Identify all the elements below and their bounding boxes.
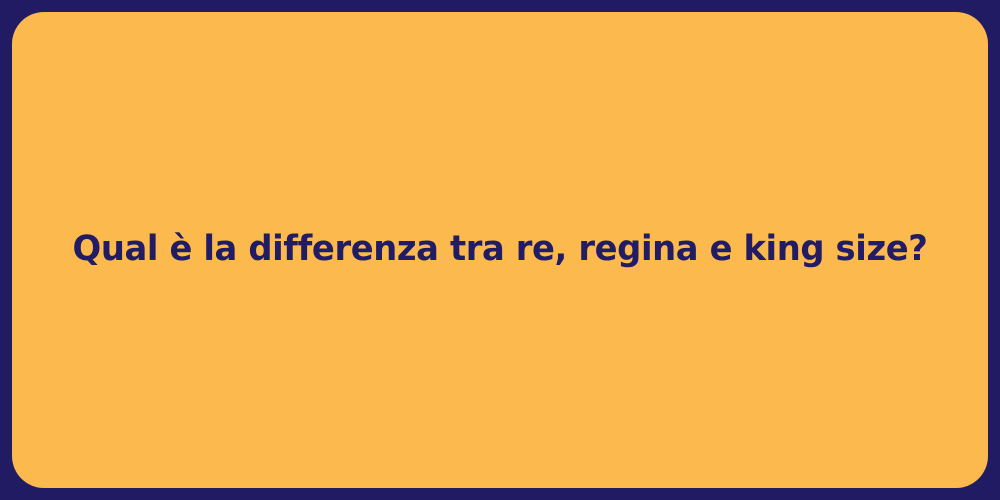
page-title: Qual è la differenza tra re, regina e ki…: [34, 228, 966, 272]
page-canvas: Qual è la differenza tra re, regina e ki…: [0, 0, 1000, 500]
content-card: Qual è la differenza tra re, regina e ki…: [12, 12, 988, 488]
